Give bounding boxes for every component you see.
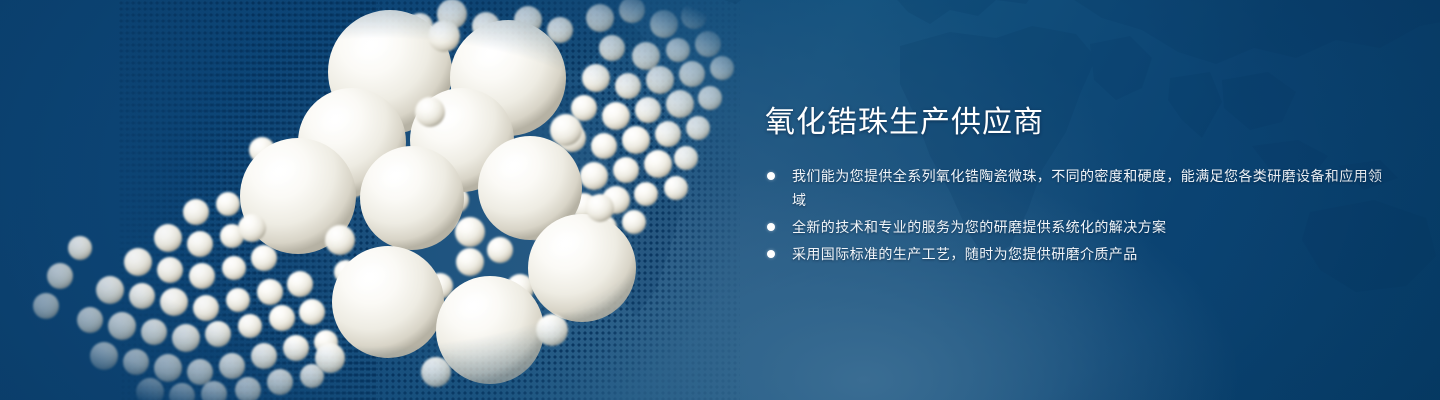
hero-banner: 氧化锆珠生产供应商 我们能为您提供全系列氧化锆陶瓷微珠，不同的密度和硬度，能满足… [0,0,1440,400]
banner-vignette [0,0,1440,400]
